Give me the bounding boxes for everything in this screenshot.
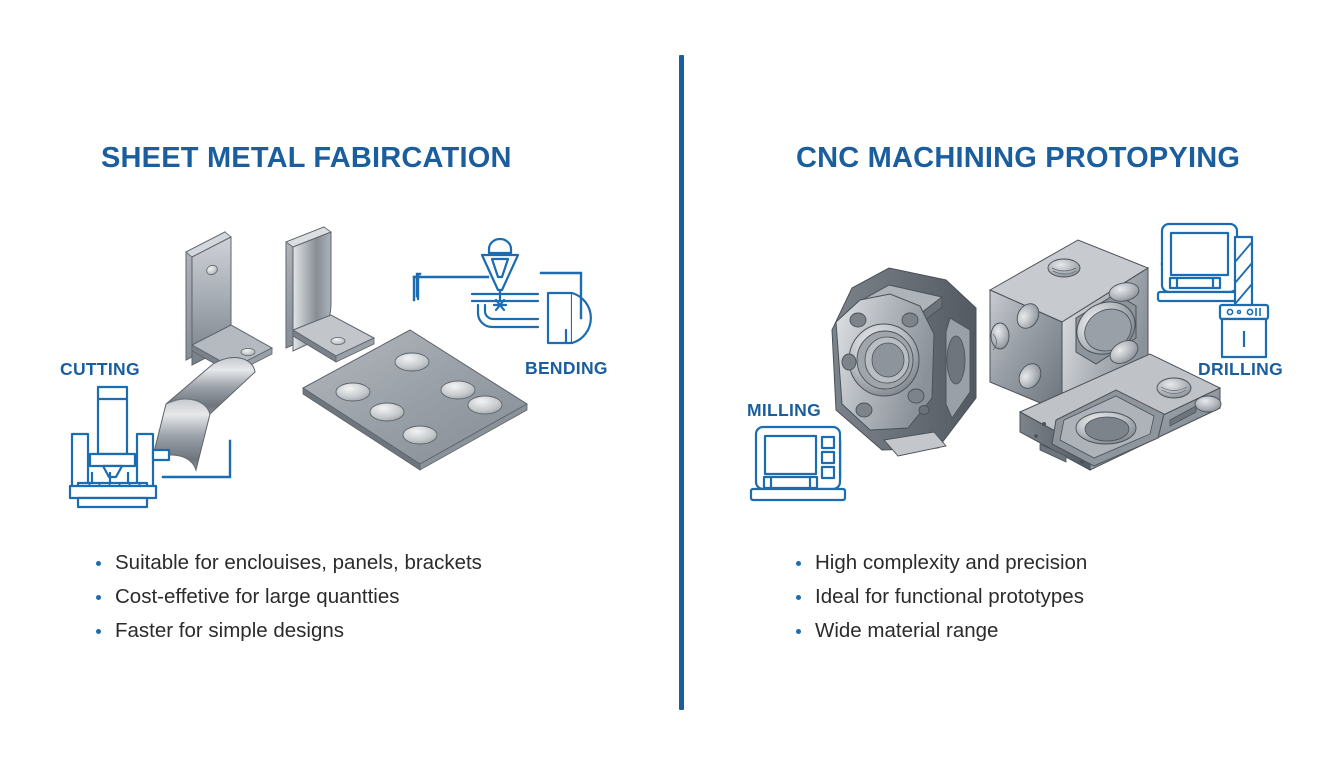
bending-icon-artwork (0, 0, 679, 768)
press-brake-icon (418, 239, 591, 343)
left-parts-artwork (0, 0, 679, 768)
left-connector-lines (163, 274, 420, 477)
label-bending: BENDING (525, 358, 608, 379)
drill-press-icon (1158, 224, 1268, 357)
perforated-plate-part (303, 330, 527, 470)
page-title-sheet-metal: SHEET METAL FABIRCATION (101, 142, 512, 175)
cutting-icon-artwork (0, 0, 679, 768)
benefits-list-cnc: High complexity and precision Ideal for … (792, 546, 1087, 648)
page-title-cnc-machining: CNC MACHINING PROTOPYING (796, 142, 1240, 175)
label-drilling: DRILLING (1198, 359, 1283, 380)
l-bracket-part-2 (286, 227, 374, 362)
right-parts-artwork (684, 0, 1344, 768)
machined-baseplate-part (1020, 354, 1221, 470)
drilling-icon-artwork (684, 0, 1344, 768)
machined-housing-part (832, 268, 976, 456)
right-panel: CNC MACHINING PROTOPYING (684, 0, 1344, 768)
infographic-canvas: SHEET METAL FABIRCATION (0, 0, 1344, 768)
list-item: High complexity and precision (792, 546, 1087, 580)
benefits-list-sheet-metal: Suitable for enclouises, panels, bracket… (92, 546, 482, 648)
list-item: Wide material range (792, 614, 1087, 648)
milling-icon-artwork (684, 0, 1344, 768)
square-flange-part (990, 240, 1148, 412)
label-cutting: CUTTING (60, 359, 140, 380)
list-item: Cost-effetive for large quantties (92, 580, 482, 614)
label-milling: MILLING (747, 400, 821, 421)
l-bracket-part-1 (186, 232, 272, 374)
list-item: Ideal for functional prototypes (792, 580, 1087, 614)
list-item: Faster for simple designs (92, 614, 482, 648)
punch-press-icon (70, 387, 169, 507)
left-panel: SHEET METAL FABIRCATION (0, 0, 679, 768)
cnc-console-icon (751, 427, 845, 500)
right-connector-lines (762, 264, 1238, 478)
bending-connector-lines (414, 273, 581, 318)
curved-sheet-part (152, 358, 255, 470)
list-item: Suitable for enclouises, panels, bracket… (92, 546, 482, 580)
